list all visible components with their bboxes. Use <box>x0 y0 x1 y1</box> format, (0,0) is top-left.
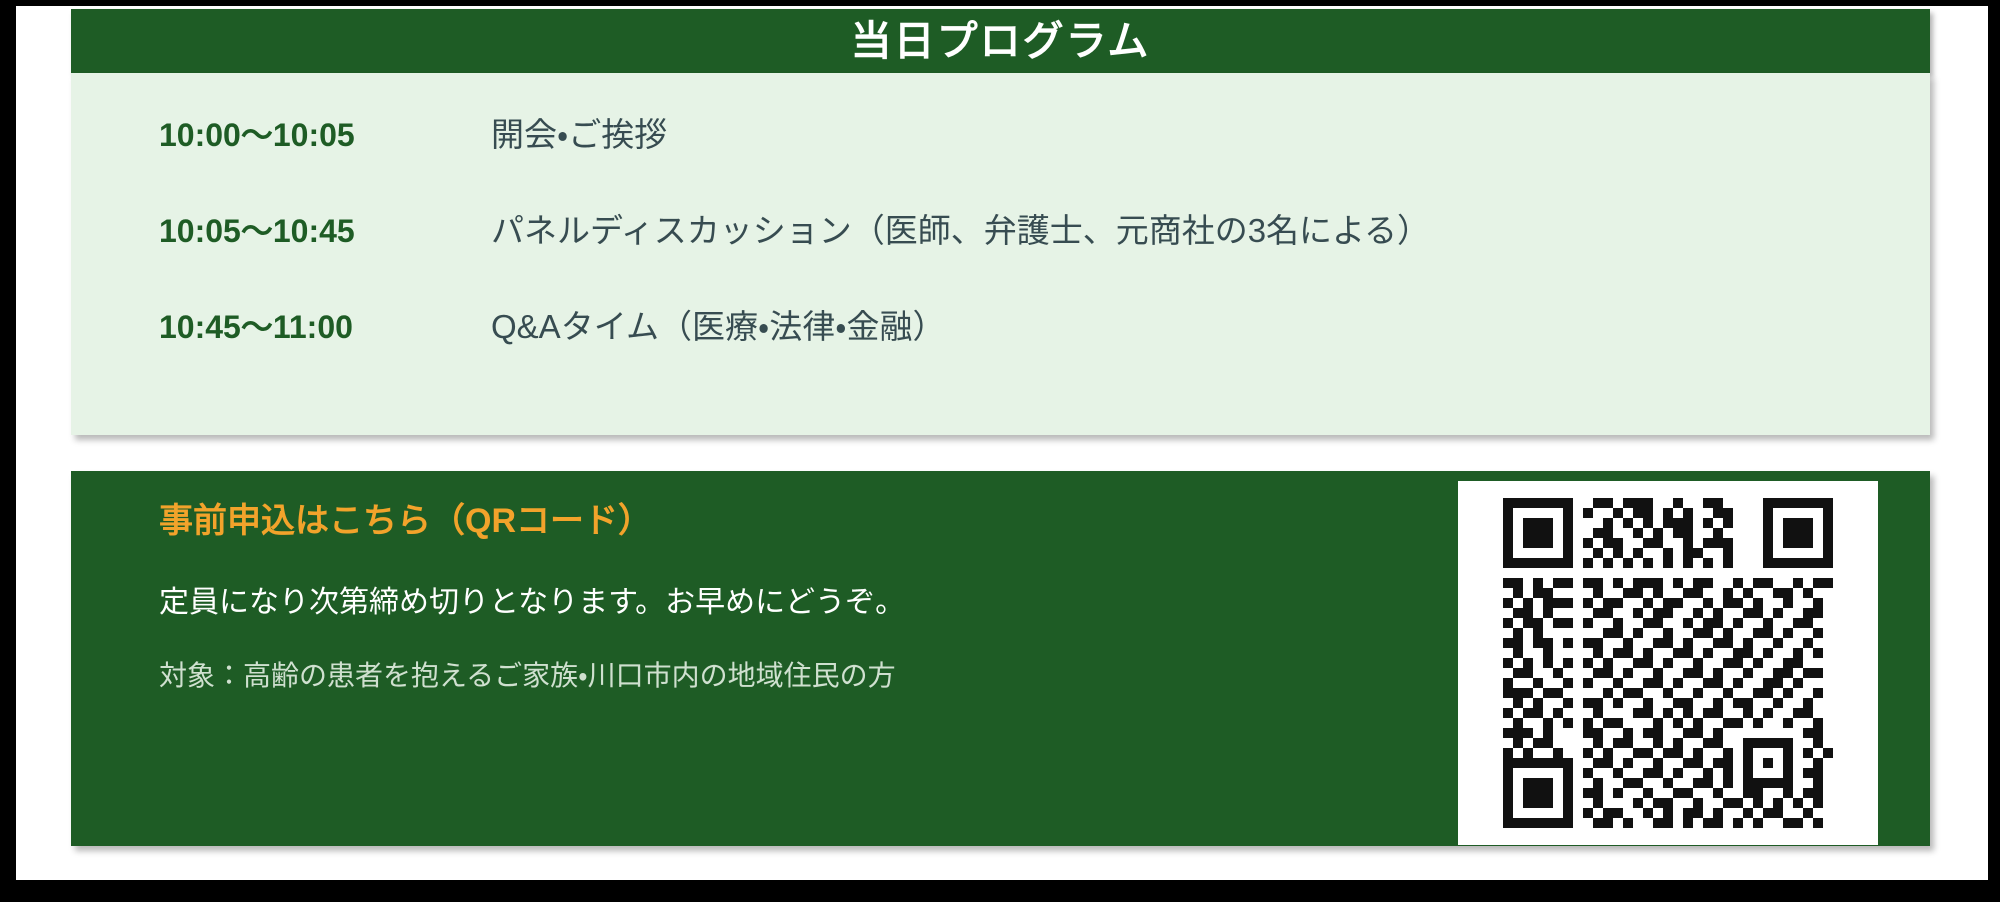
program-row-time: 10:45〜11:00 <box>71 302 491 348</box>
program-row: 10:00〜10:05 開会・ご挨拶 <box>71 108 1930 204</box>
program-row-time: 10:05〜10:45 <box>71 206 491 252</box>
program-header-bar: 当日プログラム <box>71 9 1930 73</box>
qr-code-card[interactable] <box>1458 481 1878 845</box>
registration-heading: 事前申込はこちら（QRコード） <box>159 503 905 540</box>
registration-note-primary: 定員になり次第締め切りとなります。お早めにどうぞ。 <box>159 586 905 619</box>
program-row-description: パネルディスカッション（医師、弁護士、元商社の3名による） <box>491 204 1430 252</box>
registration-note-secondary: 対象：高齢の患者を抱えるご家族・川口市内の地域住民の方 <box>159 661 905 692</box>
program-header-title: 当日プログラム <box>851 21 1151 62</box>
program-row: 10:45〜11:00 Q&Aタイム（医療・法律・金融） <box>71 300 1930 396</box>
registration-panel: 事前申込はこちら（QRコード） 定員になり次第締め切りとなります。お早めにどうぞ… <box>71 471 1930 846</box>
program-row-description: 開会・ご挨拶 <box>491 108 667 156</box>
program-panel: 10:00〜10:05 開会・ご挨拶 10:05〜10:45 パネルディスカッシ… <box>71 73 1930 435</box>
page-frame: 当日プログラム 10:00〜10:05 開会・ご挨拶 10:05〜10:45 パ… <box>0 0 2000 902</box>
registration-text-block: 事前申込はこちら（QRコード） 定員になり次第締め切りとなります。お早めにどうぞ… <box>71 471 905 692</box>
program-row: 10:05〜10:45 パネルディスカッション（医師、弁護士、元商社の3名による… <box>71 204 1930 300</box>
qr-code-icon[interactable] <box>1503 498 1833 828</box>
program-row-description: Q&Aタイム（医療・法律・金融） <box>491 300 945 348</box>
slide-page: 当日プログラム 10:00〜10:05 開会・ご挨拶 10:05〜10:45 パ… <box>16 6 1988 880</box>
program-row-time: 10:00〜10:05 <box>71 110 491 156</box>
